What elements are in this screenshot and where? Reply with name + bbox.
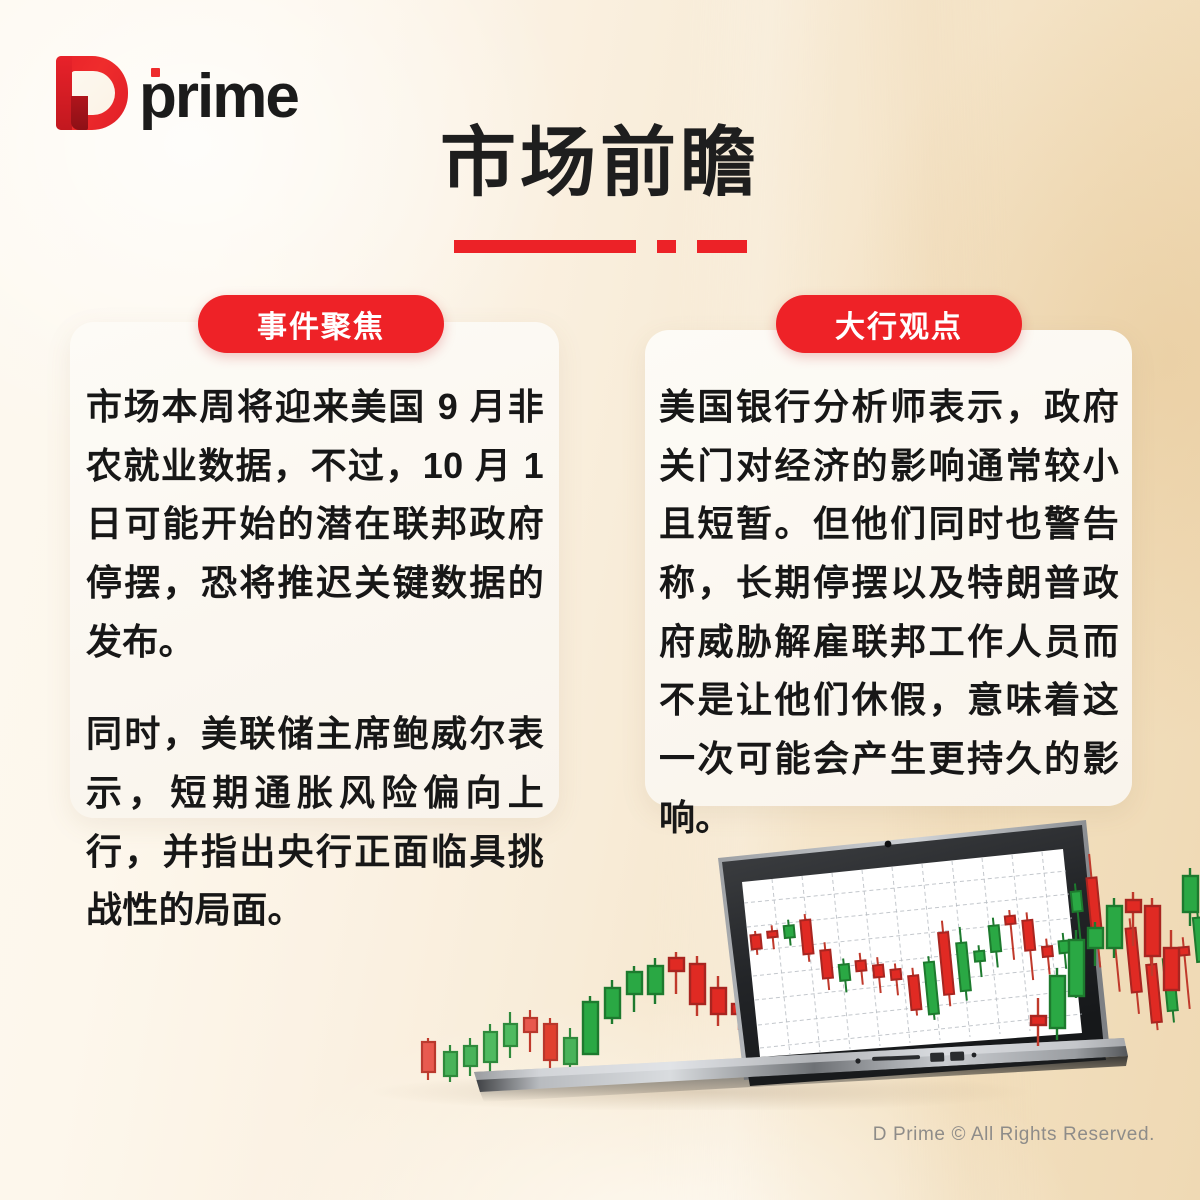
market-illustration (0, 780, 1200, 1110)
brand-wordmark: prime (139, 66, 298, 128)
bank-view-body: 美国银行分析师表示，政府关门对经济的影响通常较小且短暂。但他们同时也警告称，长期… (659, 378, 1119, 847)
i-dot-icon (151, 68, 160, 77)
divider-segment-long (454, 240, 636, 253)
d-monogram-icon (56, 56, 128, 130)
page-title: 市场前瞻 (0, 126, 1200, 202)
divider-segment-dot (657, 240, 676, 253)
divider-segment-mid (697, 240, 747, 253)
title-divider (0, 240, 1200, 253)
badge-event-focus: 事件聚焦 (198, 295, 444, 353)
brand-logo[interactable]: prime (56, 56, 298, 130)
laptop-device (474, 820, 1200, 1102)
footer-copyright: D Prime © All Rights Reserved. (873, 1124, 1155, 1146)
paragraph: 市场本周将迎来美国 9 月非农就业数据，不过，10 月 1 日可能开始的潜在联邦… (86, 378, 544, 671)
paragraph: 美国银行分析师表示，政府关门对经济的影响通常较小且短暂。但他们同时也警告称，长期… (659, 378, 1119, 847)
badge-bank-view: 大行观点 (776, 295, 1022, 353)
